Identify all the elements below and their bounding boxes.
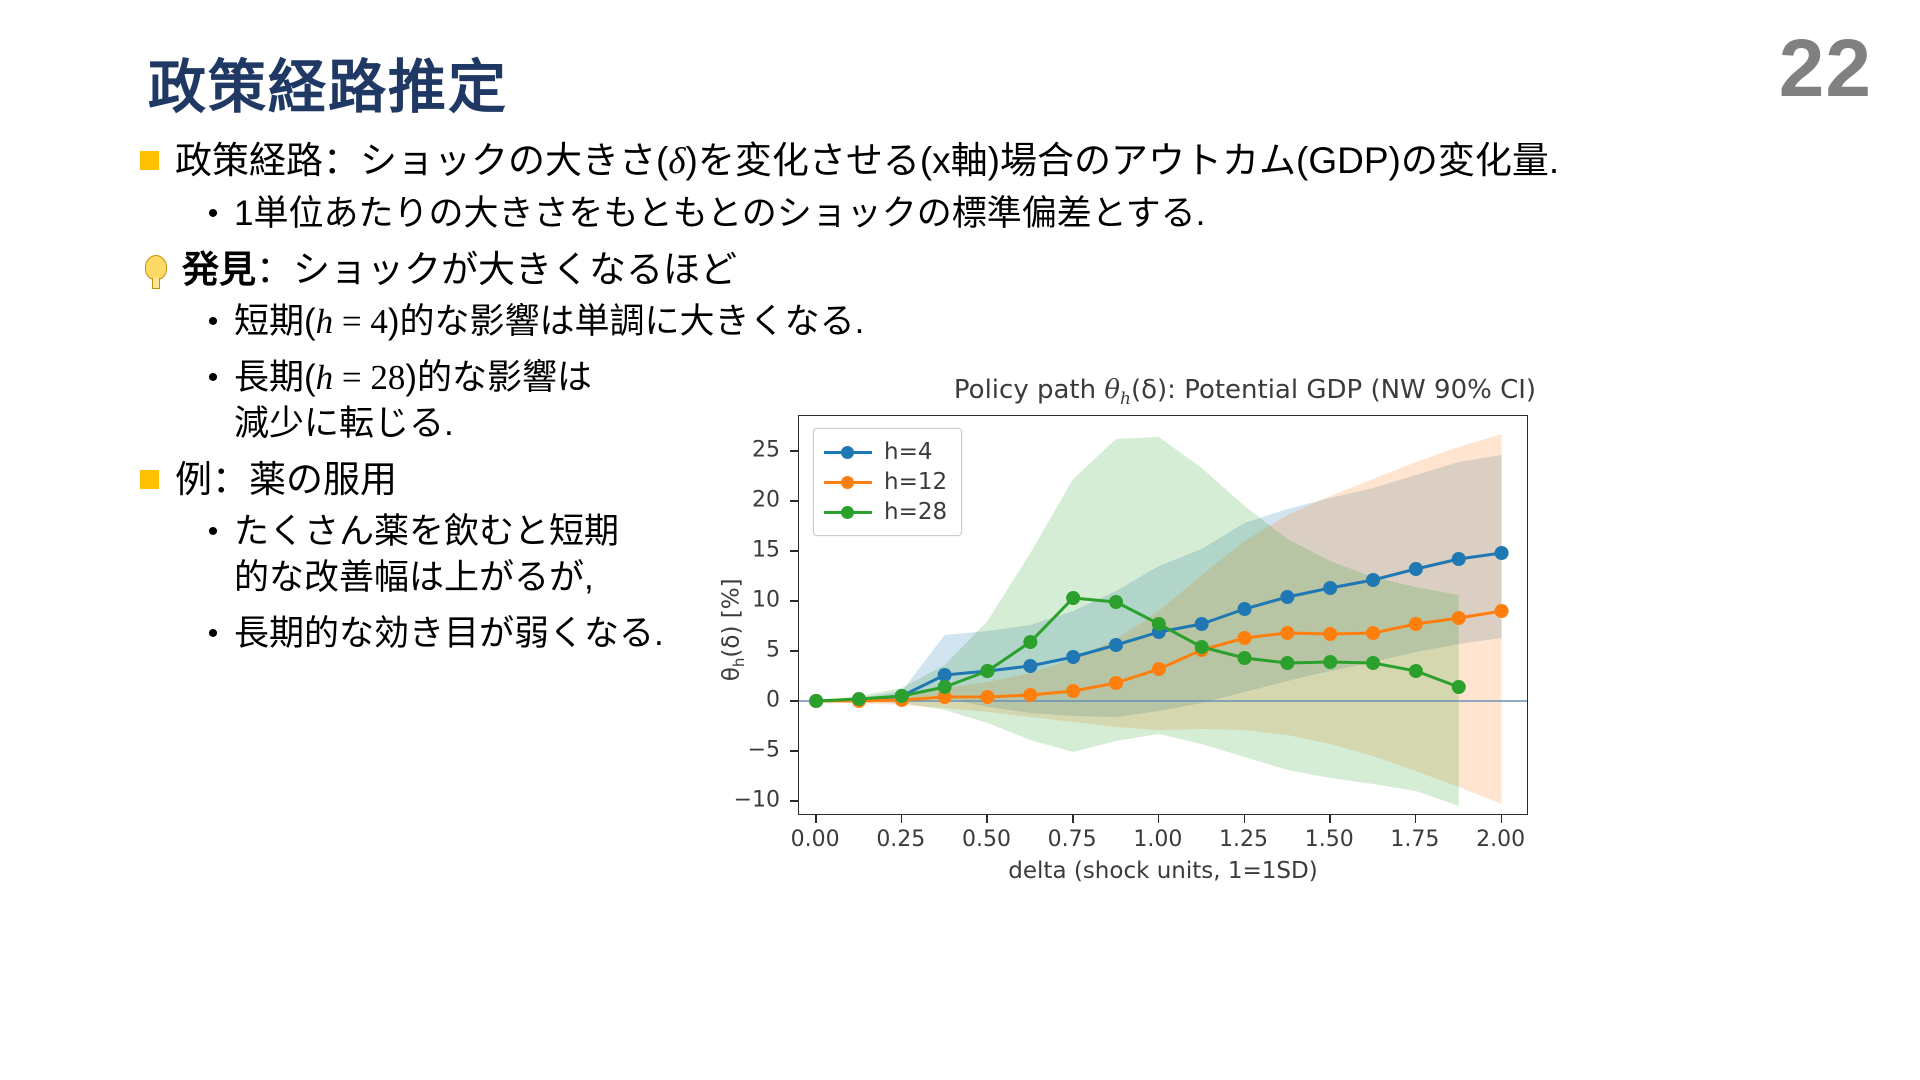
bullet-square-icon xyxy=(140,151,159,170)
y-tick-label: 15 xyxy=(718,538,780,563)
bullet-item: 政策経路：ショックの大きさ(δ)を変化させる(x軸)場合のアウトカム(GDP)の… xyxy=(140,138,1380,185)
bullet-text-segment: 政策経路：ショックの大きさ( xyxy=(175,140,668,181)
chart-title: Policy path θh(δ): Potential GDP (NW 90%… xyxy=(730,375,1760,409)
data-point xyxy=(1023,635,1037,649)
data-point xyxy=(1366,626,1380,640)
x-tick-label: 1.25 xyxy=(1204,827,1284,852)
bullet-item: •短期(h = 4)的な影響は単調に大きくなる. xyxy=(140,299,1380,345)
data-point xyxy=(1152,617,1166,631)
y-label-theta: θ xyxy=(719,667,745,681)
bullet-dot-icon: • xyxy=(198,363,228,393)
bullet-text-segment: h xyxy=(316,358,334,397)
data-point xyxy=(1452,680,1466,694)
bullet-item: •1単位あたりの大きさをもともとのショックの標準偏差とする. xyxy=(140,191,1380,237)
x-tick-mark xyxy=(1158,815,1160,823)
legend-item-h28[interactable]: h=28 xyxy=(824,497,947,527)
legend-label: h=28 xyxy=(884,499,947,525)
bullet-text: 短期(h = 4)的な影響は単調に大きくなる. xyxy=(234,299,864,345)
lightbulb-icon xyxy=(140,253,174,293)
x-tick-mark xyxy=(1501,815,1503,823)
bullet-text: 長期的な効き目が弱くなる. xyxy=(234,611,664,657)
x-tick-mark xyxy=(1072,815,1074,823)
bullet-text: 長期(h = 28)的な影響は減少に転じる. xyxy=(234,355,592,447)
data-point xyxy=(980,690,994,704)
bullet-square-icon xyxy=(140,470,159,489)
data-point xyxy=(1109,638,1123,652)
data-point xyxy=(1495,604,1509,618)
bullet-text-segment: δ xyxy=(668,141,685,182)
bullet-text-segment: 長期的な効き目が弱くなる. xyxy=(234,614,664,653)
x-tick-mark xyxy=(815,815,817,823)
chart-title-pre: Policy path xyxy=(954,375,1104,405)
legend-marker-icon xyxy=(824,506,872,518)
data-point xyxy=(938,668,952,682)
y-tick-mark xyxy=(790,750,798,752)
data-point xyxy=(1366,573,1380,587)
policy-path-chart: Policy path θh(δ): Potential GDP (NW 90%… xyxy=(730,440,1910,1060)
legend-label: h=4 xyxy=(884,439,932,465)
bullet-text-segment: = xyxy=(333,302,370,341)
data-point xyxy=(1152,662,1166,676)
x-tick-mark xyxy=(1329,815,1331,823)
data-point xyxy=(1109,676,1123,690)
y-tick-mark xyxy=(790,500,798,502)
data-point xyxy=(938,680,952,694)
bullet-text-segment: = xyxy=(333,358,370,397)
y-tick-label: 25 xyxy=(718,438,780,463)
bullet-dot-icon: • xyxy=(198,199,228,229)
bullet-text-segment: )的な影響は単調に大きくなる. xyxy=(388,302,864,341)
bullet-text: 政策経路：ショックの大きさ(δ)を変化させる(x軸)場合のアウトカム(GDP)の… xyxy=(175,138,1559,185)
data-point xyxy=(1409,617,1423,631)
x-tick-label: 1.75 xyxy=(1375,827,1455,852)
legend-marker-icon xyxy=(824,446,872,458)
bullet-text-segment: ：ショックが大きくなるほど xyxy=(256,249,737,290)
data-point xyxy=(1280,590,1294,604)
y-tick-label: −10 xyxy=(718,788,780,813)
bullet-text-segment: 発見 xyxy=(182,249,256,290)
data-point xyxy=(1023,688,1037,702)
chart-title-rest: (δ): Potential GDP (NW 90% CI) xyxy=(1131,375,1536,405)
x-tick-label: 1.50 xyxy=(1289,827,1369,852)
data-point xyxy=(1323,627,1337,641)
x-tick-label: 0.50 xyxy=(946,827,1026,852)
y-tick-mark xyxy=(790,450,798,452)
bullet-text-segment: 的な改善幅は上がるが, xyxy=(234,558,594,597)
bullet-dot-icon: • xyxy=(198,307,228,337)
x-tick-mark xyxy=(901,815,903,823)
chart-title-theta: θ xyxy=(1104,375,1120,405)
data-point xyxy=(1066,684,1080,698)
chart-legend[interactable]: h=4h=12h=28 xyxy=(813,428,962,536)
data-point xyxy=(1495,546,1509,560)
bullet-text-segment: 4 xyxy=(370,302,388,341)
data-point xyxy=(1195,640,1209,654)
x-tick-label: 1.00 xyxy=(1118,827,1198,852)
data-point xyxy=(980,664,994,678)
bullet-text-segment: たくさん薬を飲むと短期 xyxy=(234,512,619,551)
data-point xyxy=(1238,602,1252,616)
page-title: 政策経路推定 xyxy=(148,40,508,124)
bullet-text-segment: h xyxy=(316,302,334,341)
bullet-dot-icon: • xyxy=(198,619,228,649)
data-point xyxy=(852,692,866,706)
bullet-text: 発見：ショックが大きくなるほど xyxy=(182,247,737,293)
y-tick-label: 10 xyxy=(718,588,780,613)
bullet-text-segment: )的な影響は xyxy=(405,358,592,397)
bullet-text-segment: 28 xyxy=(370,358,405,397)
y-tick-mark xyxy=(790,650,798,652)
bullet-text-segment: )を変化させる(x軸)場合のアウトカム(GDP)の変化量. xyxy=(686,140,1560,181)
data-point xyxy=(1323,581,1337,595)
bullet-text-segment: 1単位あたりの大きさをもともとのショックの標準偏差とする. xyxy=(234,194,1205,233)
plot-area: h=4h=12h=28 xyxy=(798,415,1528,815)
data-point xyxy=(1452,552,1466,566)
data-point xyxy=(1280,626,1294,640)
x-tick-label: 0.75 xyxy=(1032,827,1112,852)
data-point xyxy=(1366,656,1380,670)
x-tick-label: 0.00 xyxy=(775,827,855,852)
y-tick-label: 5 xyxy=(718,638,780,663)
x-axis-label: delta (shock units, 1=1SD) xyxy=(798,858,1528,884)
bullet-text-segment: 長期( xyxy=(234,358,316,397)
data-point xyxy=(1238,631,1252,645)
y-tick-mark xyxy=(790,700,798,702)
bullet-text-segment: 減少に転じる. xyxy=(234,404,454,443)
legend-label: h=12 xyxy=(884,469,947,495)
x-tick-mark xyxy=(1415,815,1417,823)
x-tick-label: 2.00 xyxy=(1461,827,1541,852)
data-point xyxy=(1109,595,1123,609)
data-point xyxy=(1409,562,1423,576)
bullet-text-segment: 短期( xyxy=(234,302,316,341)
y-tick-label: −5 xyxy=(718,738,780,763)
data-point xyxy=(895,689,909,703)
data-point xyxy=(809,694,823,708)
data-point xyxy=(1195,617,1209,631)
data-point xyxy=(1452,611,1466,625)
bullet-text: 1単位あたりの大きさをもともとのショックの標準偏差とする. xyxy=(234,191,1205,237)
slide-page-number: 22 xyxy=(1779,22,1872,116)
bullet-text: たくさん薬を飲むと短期的な改善幅は上がるが, xyxy=(234,509,619,601)
data-point xyxy=(1409,664,1423,678)
y-tick-mark xyxy=(790,600,798,602)
legend-item-h12[interactable]: h=12 xyxy=(824,467,947,497)
x-tick-mark xyxy=(1244,815,1246,823)
bullet-text-segment: 例：薬の服用 xyxy=(175,459,397,500)
bullet-dot-icon: • xyxy=(198,517,228,547)
legend-item-h4[interactable]: h=4 xyxy=(824,437,947,467)
y-tick-mark xyxy=(790,550,798,552)
data-point xyxy=(1066,650,1080,664)
y-tick-label: 20 xyxy=(718,488,780,513)
data-point xyxy=(1280,656,1294,670)
legend-marker-icon xyxy=(824,476,872,488)
x-tick-mark xyxy=(986,815,988,823)
x-tick-label: 0.25 xyxy=(861,827,941,852)
bullet-text: 例：薬の服用 xyxy=(175,457,397,503)
data-point xyxy=(1238,651,1252,665)
data-point xyxy=(1066,591,1080,605)
data-point xyxy=(1023,659,1037,673)
data-point xyxy=(1323,655,1337,669)
y-tick-mark xyxy=(790,800,798,802)
y-tick-label: 0 xyxy=(718,688,780,713)
chart-title-subscript: h xyxy=(1120,389,1131,409)
bullet-item: 発見：ショックが大きくなるほど xyxy=(140,247,1380,293)
